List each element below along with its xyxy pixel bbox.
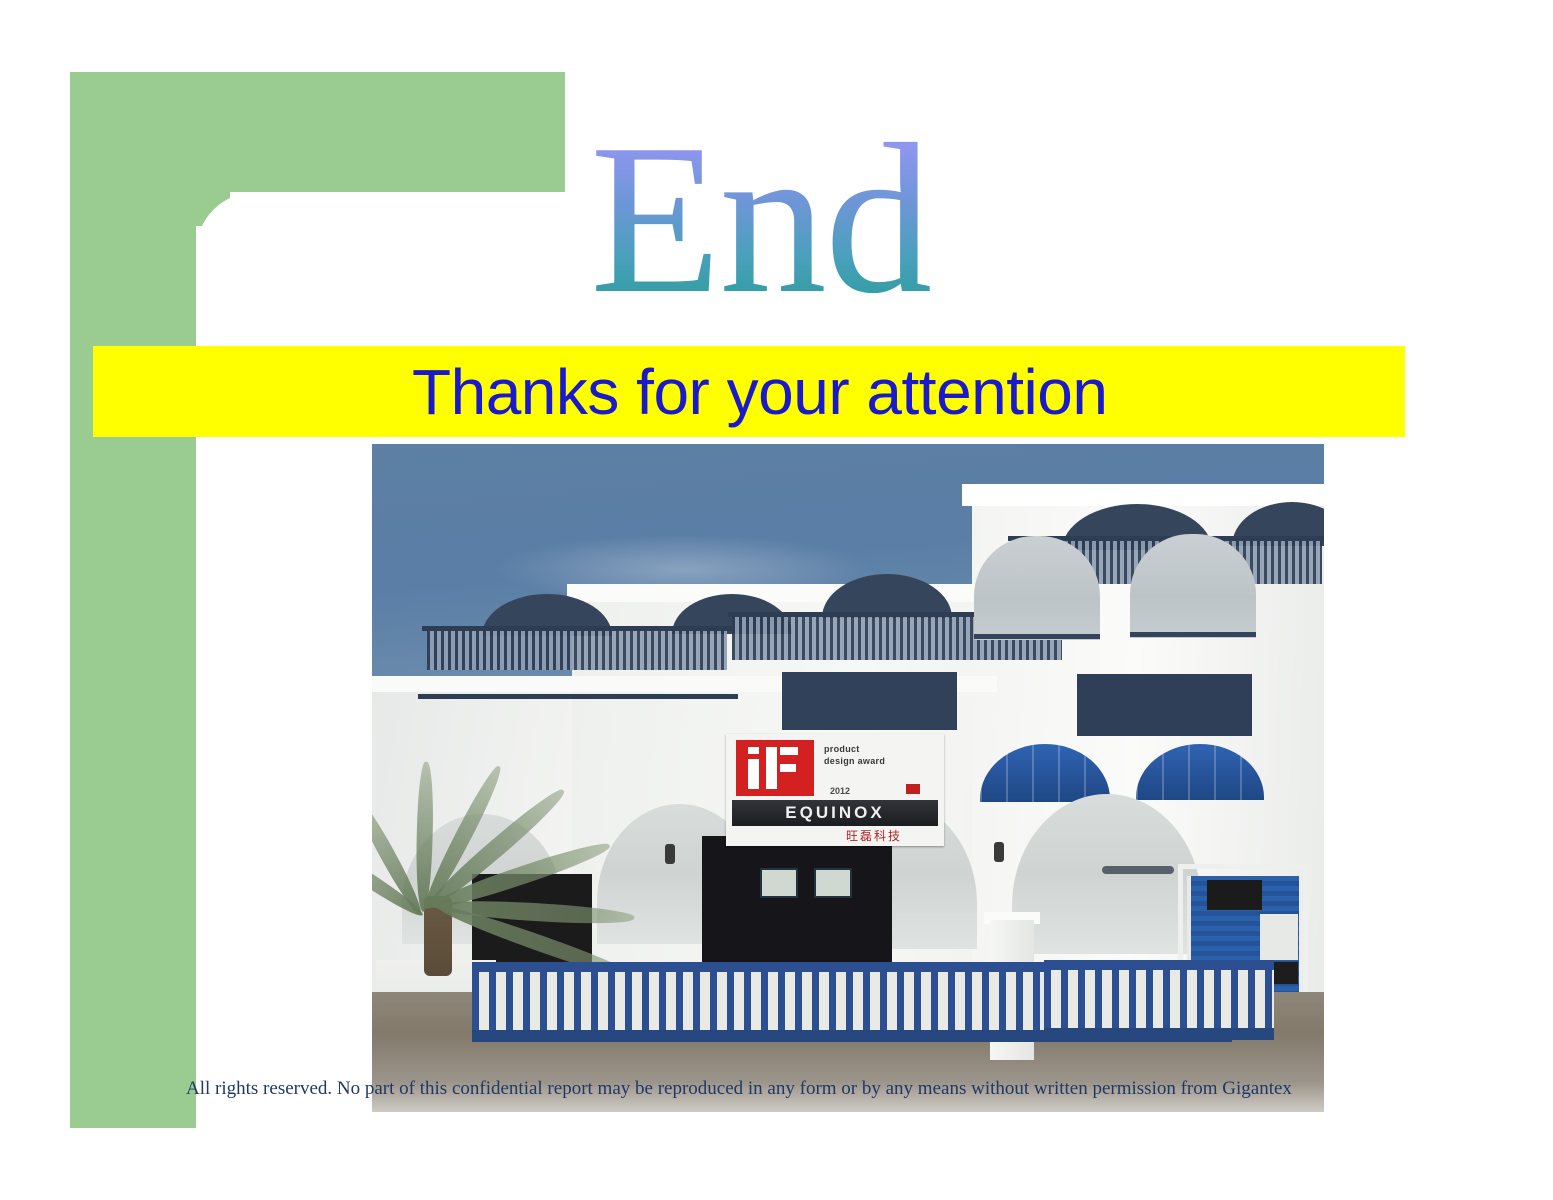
building-photo-inner: product design award 2012 EQUINOX 旺磊科技 <box>372 444 1324 1112</box>
arch-sill-2 <box>1130 632 1256 637</box>
fence-pickets <box>1044 968 1274 1032</box>
footer-copyright: All rights reserved. No part of this con… <box>186 1077 1386 1101</box>
award-sign: product design award 2012 EQUINOX 旺磊科技 <box>726 734 944 846</box>
slide-canvas: End Thanks for your attention <box>0 0 1553 1200</box>
green-vertical-bar <box>70 72 196 1128</box>
door-window-right <box>814 868 852 898</box>
green-horizontal-bar <box>70 72 565 192</box>
blue-fence-right <box>1044 960 1274 1040</box>
canopy-arm <box>1102 866 1174 874</box>
thanks-banner-text: Thanks for your attention <box>412 352 1112 432</box>
door-window-left <box>760 868 798 898</box>
wall-lamp-1 <box>665 844 675 864</box>
pergola-lattice-left <box>427 630 727 670</box>
award-red-square <box>906 784 920 794</box>
railing-1 <box>422 626 732 631</box>
upper-arch-opening-2 <box>1130 534 1256 638</box>
dark-window-middle <box>782 672 957 730</box>
award-year: 2012 <box>830 786 850 796</box>
dark-window-right <box>1077 674 1252 736</box>
railing-4 <box>418 694 738 699</box>
upper-arch-opening-1 <box>974 536 1100 640</box>
fence-top-rail <box>1044 960 1274 970</box>
page-title-wordart: End <box>590 104 990 334</box>
brand-name: EQUINOX <box>732 800 938 826</box>
shutter-dark-panel <box>1207 880 1262 910</box>
wall-lamp-2 <box>994 842 1004 862</box>
parapet-right <box>962 484 1324 506</box>
building-photo: product design award 2012 EQUINOX 旺磊科技 <box>372 444 1324 1112</box>
if-logo-glyph <box>746 747 804 789</box>
arch-sill-1 <box>974 634 1100 639</box>
award-label-line2: design award <box>824 756 885 767</box>
award-label-line1: product <box>824 744 860 755</box>
brand-name-chinese: 旺磊科技 <box>846 827 902 844</box>
if-award-logo <box>736 740 814 796</box>
brand-bar: EQUINOX <box>732 800 938 826</box>
shutter-side-window <box>1260 914 1298 960</box>
fence-bottom-rail <box>1044 1028 1274 1040</box>
